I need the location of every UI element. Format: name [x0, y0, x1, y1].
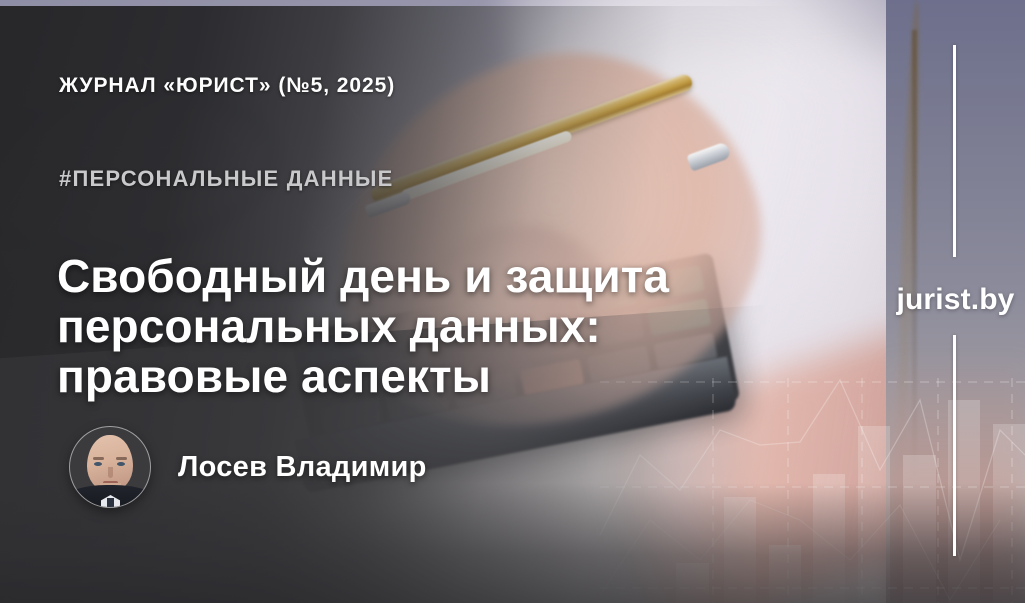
headline-line-1: Свободный день и защита — [57, 251, 677, 301]
author-block: Лосев Владимир — [70, 427, 427, 507]
magazine-issue-label: ЖУРНАЛ «ЮРИСТ» (№5, 2025) — [59, 74, 395, 98]
brand-block: jurist.by — [886, 0, 1025, 603]
brand-name: jurist.by — [886, 283, 1025, 317]
headline-line-2: персональных данных: — [57, 301, 677, 351]
author-name: Лосев Владимир — [178, 451, 427, 484]
cover-content: ЖУРНАЛ «ЮРИСТ» (№5, 2025) #ПЕРСОНАЛЬНЫЕ … — [0, 0, 1025, 603]
headline-line-3: правовые аспекты — [57, 351, 677, 401]
article-headline: Свободный день и защита персональных дан… — [57, 251, 677, 401]
vertical-rule-bottom-icon — [953, 335, 956, 556]
topic-hashtag: #ПЕРСОНАЛЬНЫЕ ДАННЫЕ — [59, 166, 394, 192]
avatar — [70, 427, 150, 507]
vertical-rule-top-icon — [953, 45, 956, 257]
avatar-ring-icon — [70, 427, 150, 507]
article-cover: ЖУРНАЛ «ЮРИСТ» (№5, 2025) #ПЕРСОНАЛЬНЫЕ … — [0, 0, 1025, 603]
